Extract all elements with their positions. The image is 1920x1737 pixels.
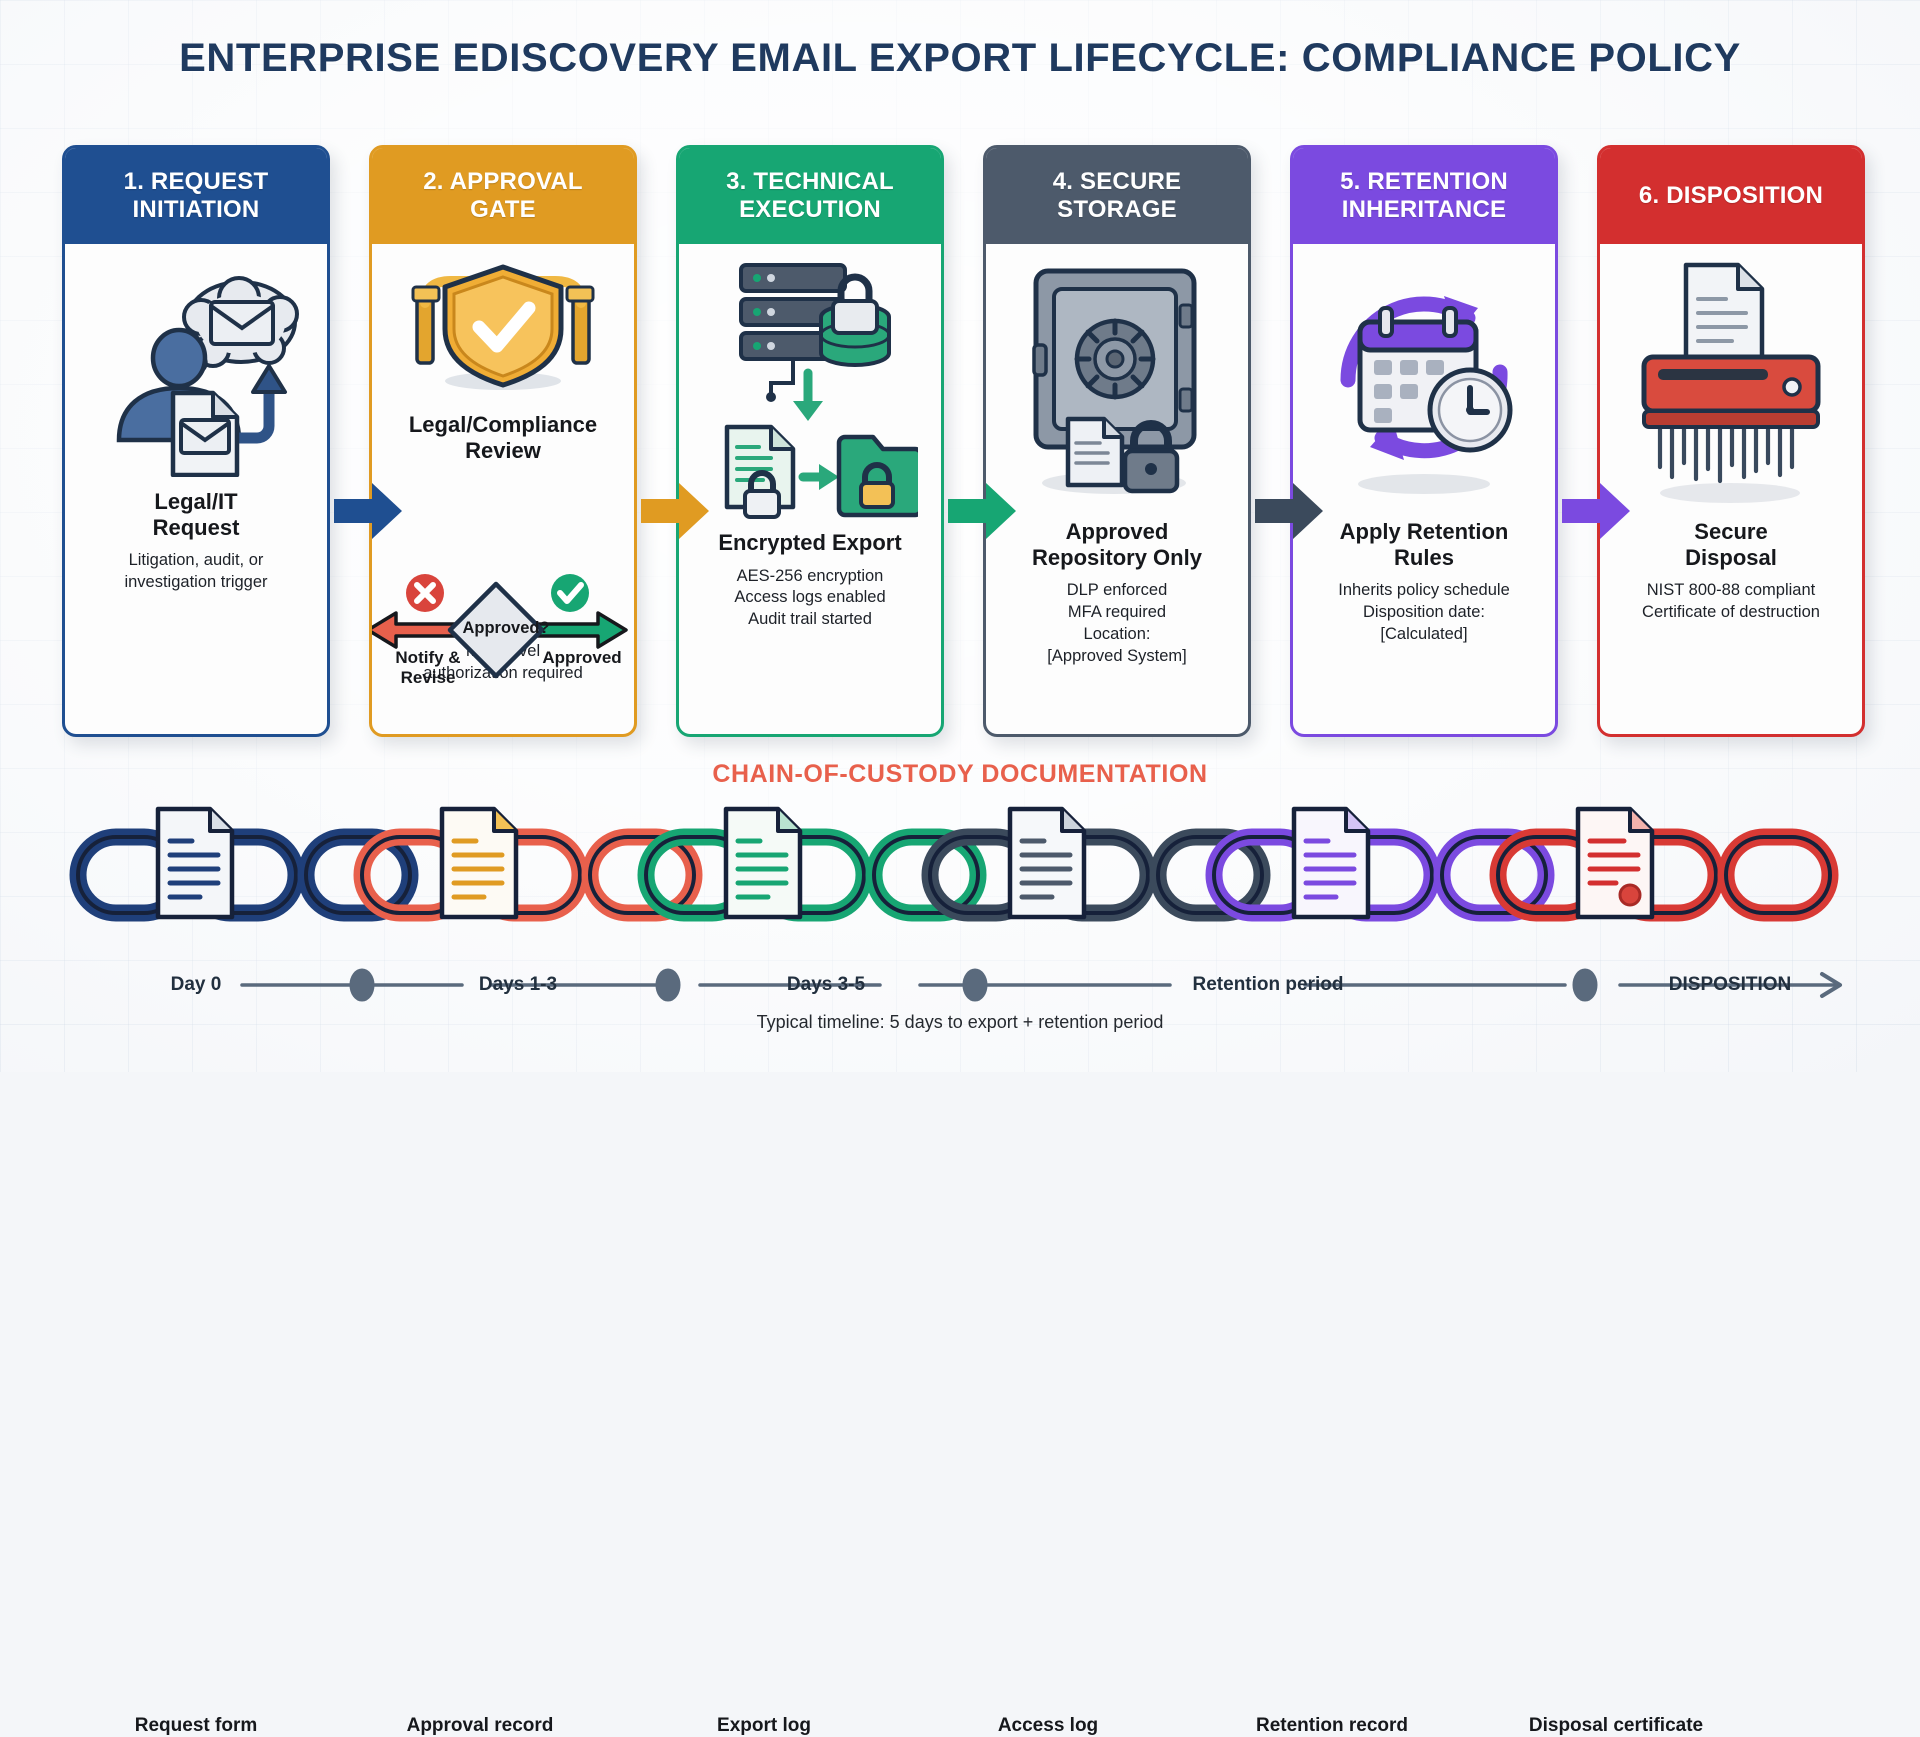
step-1-label: Legal/IT Request: [153, 489, 240, 540]
gate-approve-label: Approved: [522, 648, 637, 668]
safe-vault-lock-icon: [996, 252, 1238, 517]
arrow-5-to-6: [1562, 483, 1630, 539]
chain-caption-approval-record: Approval record: [330, 1715, 630, 1737]
arrow-3-to-4: [948, 483, 1016, 539]
chain-document-export-log: [726, 809, 800, 917]
step-6-body: Secure Disposal NIST 800-88 compliant Ce…: [1600, 244, 1862, 734]
step-card-retention-inheritance[interactable]: 5. RETENTION INHERITANCE: [1290, 145, 1558, 737]
calendar-clock-cycle-icon: [1303, 252, 1545, 517]
step-6-header: 6. DISPOSITION: [1600, 148, 1862, 244]
chain-caption-request-form: Request form: [46, 1715, 346, 1737]
step-6-label-line2: Disposal: [1685, 545, 1777, 571]
step-6-description: NIST 800-88 compliant Certificate of des…: [1642, 580, 1820, 624]
step-2-header: 2. APPROVAL GATE: [372, 148, 634, 244]
step-3-body: Encrypted Export AES-256 encryption Acce…: [679, 244, 941, 734]
step-1-label-line1: Legal/IT: [153, 489, 240, 515]
step-2-label: Legal/Compliance Review: [409, 412, 597, 463]
chain-document-retention-record: [1294, 809, 1368, 917]
step-5-header-line1: 5. RETENTION: [1340, 168, 1508, 196]
step-1-header-line2: INITIATION: [124, 196, 269, 224]
step-3-label-line1: Encrypted Export: [718, 530, 901, 556]
step-3-header-line2: EXECUTION: [726, 196, 894, 224]
step-4-description: DLP enforced MFA required Location: [App…: [1047, 580, 1186, 668]
step-3-header-line1: 3. TECHNICAL: [726, 168, 894, 196]
step-3-description: AES-256 encryption Access logs enabled A…: [734, 566, 885, 632]
timeline-label-retention-period: Retention period: [1168, 974, 1368, 996]
step-4-body: Approved Repository Only DLP enforced MF…: [986, 244, 1248, 734]
chain-caption-export-log: Export log: [614, 1715, 914, 1737]
chain-document-approval-record: [442, 809, 516, 917]
step-5-body: Apply Retention Rules Inherits policy sc…: [1293, 244, 1555, 734]
gate-diamond-label: Approved?: [426, 619, 586, 638]
step-1-label-line2: Request: [153, 515, 240, 541]
step-card-secure-storage[interactable]: 4. SECURE STORAGE: [983, 145, 1251, 737]
step-card-approval-gate[interactable]: 2. APPROVAL GATE: [369, 145, 637, 737]
server-lock-export-icon: [689, 252, 931, 532]
step-5-description: Inherits policy schedule Disposition dat…: [1338, 580, 1510, 646]
step-4-header-line2: STORAGE: [1053, 196, 1182, 224]
lifecycle-steps-row: 1. REQUEST INITIATION: [62, 145, 1862, 745]
chain-of-custody-title: CHAIN-OF-CUSTODY DOCUMENTATION: [0, 760, 1920, 789]
arrow-1-to-2: [334, 483, 402, 539]
chain-caption-access-log: Access log: [898, 1715, 1198, 1737]
arrow-4-to-5: [1255, 483, 1323, 539]
shield-check-icon: [382, 248, 624, 418]
step-card-request-initiation[interactable]: 1. REQUEST INITIATION: [62, 145, 330, 737]
step-4-label-line1: Approved: [1032, 519, 1202, 545]
step-4-label: Approved Repository Only: [1032, 519, 1202, 570]
arrow-2-to-3: [641, 483, 709, 539]
timeline-label-disposition: DISPOSITION: [1640, 974, 1820, 996]
step-4-label-line2: Repository Only: [1032, 545, 1202, 571]
chain-caption-retention-record: Retention record: [1182, 1715, 1482, 1737]
step-1-header: 1. REQUEST INITIATION: [65, 148, 327, 244]
step-card-technical-execution[interactable]: 3. TECHNICAL EXECUTION: [676, 145, 944, 737]
gate-reject-label: Notify & Revise: [369, 648, 488, 687]
step-6-header-line1: 6. DISPOSITION: [1639, 182, 1823, 210]
step-3-header: 3. TECHNICAL EXECUTION: [679, 148, 941, 244]
step-6-label: Secure Disposal: [1685, 519, 1777, 570]
step-1-header-line1: 1. REQUEST: [124, 168, 269, 196]
step-2-body: Legal/Compliance Review: [372, 244, 634, 734]
chain-document-access-log: [1010, 809, 1084, 917]
timeline-label-day-0: Day 0: [150, 974, 242, 996]
shredder-icon: [1610, 252, 1852, 517]
step-1-body: Legal/IT Request Litigation, audit, or i…: [65, 244, 327, 734]
person-thinking-email-icon: [75, 252, 317, 487]
page-title: ENTERPRISE EDISCOVERY EMAIL EXPORT LIFEC…: [0, 36, 1920, 81]
chain-document-disposal-certificate: [1578, 809, 1652, 917]
timeline-label-days-3-5: Days 3-5: [770, 974, 882, 996]
step-5-header: 5. RETENTION INHERITANCE: [1293, 148, 1555, 244]
step-5-label: Apply Retention Rules: [1340, 519, 1509, 570]
chain-document-request-form: [158, 809, 232, 917]
step-2-header-line2: GATE: [423, 196, 583, 224]
step-4-header-line1: 4. SECURE: [1053, 168, 1182, 196]
step-5-label-line2: Rules: [1340, 545, 1509, 571]
chain-of-custody-strip: Request form Approval record Export log …: [62, 795, 1862, 925]
step-2-label-line2: Review: [409, 438, 597, 464]
step-6-label-line1: Secure: [1685, 519, 1777, 545]
chain-links: [78, 837, 1830, 913]
step-5-header-line2: INHERITANCE: [1340, 196, 1508, 224]
step-2-header-line1: 2. APPROVAL: [423, 168, 583, 196]
timeline-label-days-1-3: Days 1-3: [462, 974, 574, 996]
step-5-label-line1: Apply Retention: [1340, 519, 1509, 545]
step-1-description: Litigation, audit, or investigation trig…: [124, 550, 267, 594]
timeline-note: Typical timeline: 5 days to export + ret…: [0, 1012, 1920, 1033]
infographic-stage: ENTERPRISE EDISCOVERY EMAIL EXPORT LIFEC…: [0, 0, 1920, 1072]
step-3-label: Encrypted Export: [718, 530, 901, 556]
step-card-disposition[interactable]: 6. DISPOSITION: [1597, 145, 1865, 737]
chain-caption-disposal-certificate: Disposal certificate: [1466, 1715, 1766, 1737]
approval-decision-gate: Approved? Notify & Revise Approved: [372, 562, 634, 712]
step-4-header: 4. SECURE STORAGE: [986, 148, 1248, 244]
